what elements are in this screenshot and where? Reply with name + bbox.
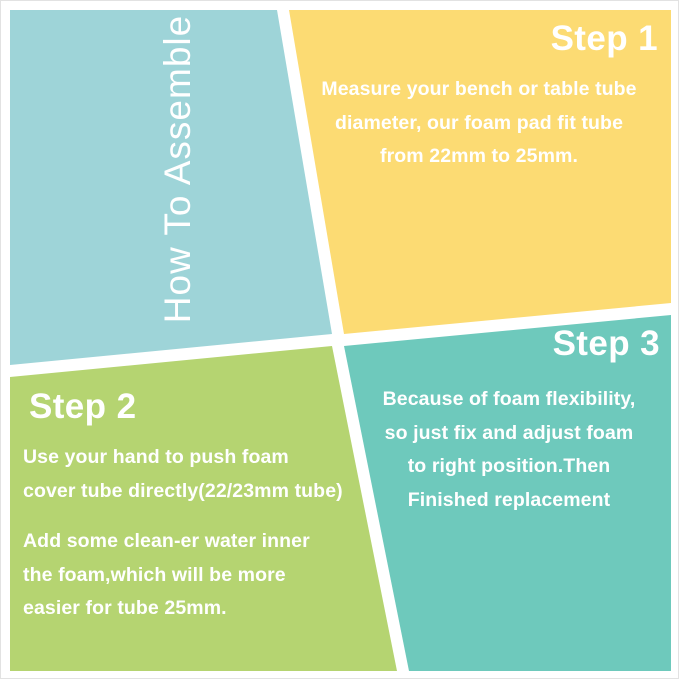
step-1-line: Measure your bench or table tube xyxy=(296,73,662,107)
step-3-line: to right position.Then xyxy=(354,450,664,484)
step-2-line: cover tube directly(22/23mm tube) xyxy=(23,475,373,509)
assembly-instructions-poster: How To Assemble Step 1 Measure your benc… xyxy=(0,0,679,679)
step-2-line: the foam,which will be more xyxy=(23,559,373,593)
step-3-line: so just fix and adjust foam xyxy=(354,417,664,451)
step-3-heading: Step 3 xyxy=(553,326,660,363)
step-3-line: Finished replacement xyxy=(354,484,664,518)
step-1-line: diameter, our foam pad fit tube xyxy=(296,107,662,141)
step-1-line: from 22mm to 25mm. xyxy=(296,140,662,174)
step-2-paragraph-gap xyxy=(23,508,373,525)
step-2-line: Add some clean-er water inner xyxy=(23,525,373,559)
step-1-body: Measure your bench or table tube diamete… xyxy=(296,73,662,174)
step-1-heading: Step 1 xyxy=(551,21,658,58)
step-3-line: Because of foam flexibility, xyxy=(354,383,664,417)
step-2-line: easier for tube 25mm. xyxy=(23,592,373,626)
step-2-heading: Step 2 xyxy=(29,389,136,426)
step-3-body: Because of foam flexibility, so just fix… xyxy=(354,383,664,517)
step-2-body: Use your hand to push foam cover tube di… xyxy=(23,441,373,626)
panel-stage: How To Assemble Step 1 Measure your benc… xyxy=(1,1,679,679)
step-2-line: Use your hand to push foam xyxy=(23,441,373,475)
